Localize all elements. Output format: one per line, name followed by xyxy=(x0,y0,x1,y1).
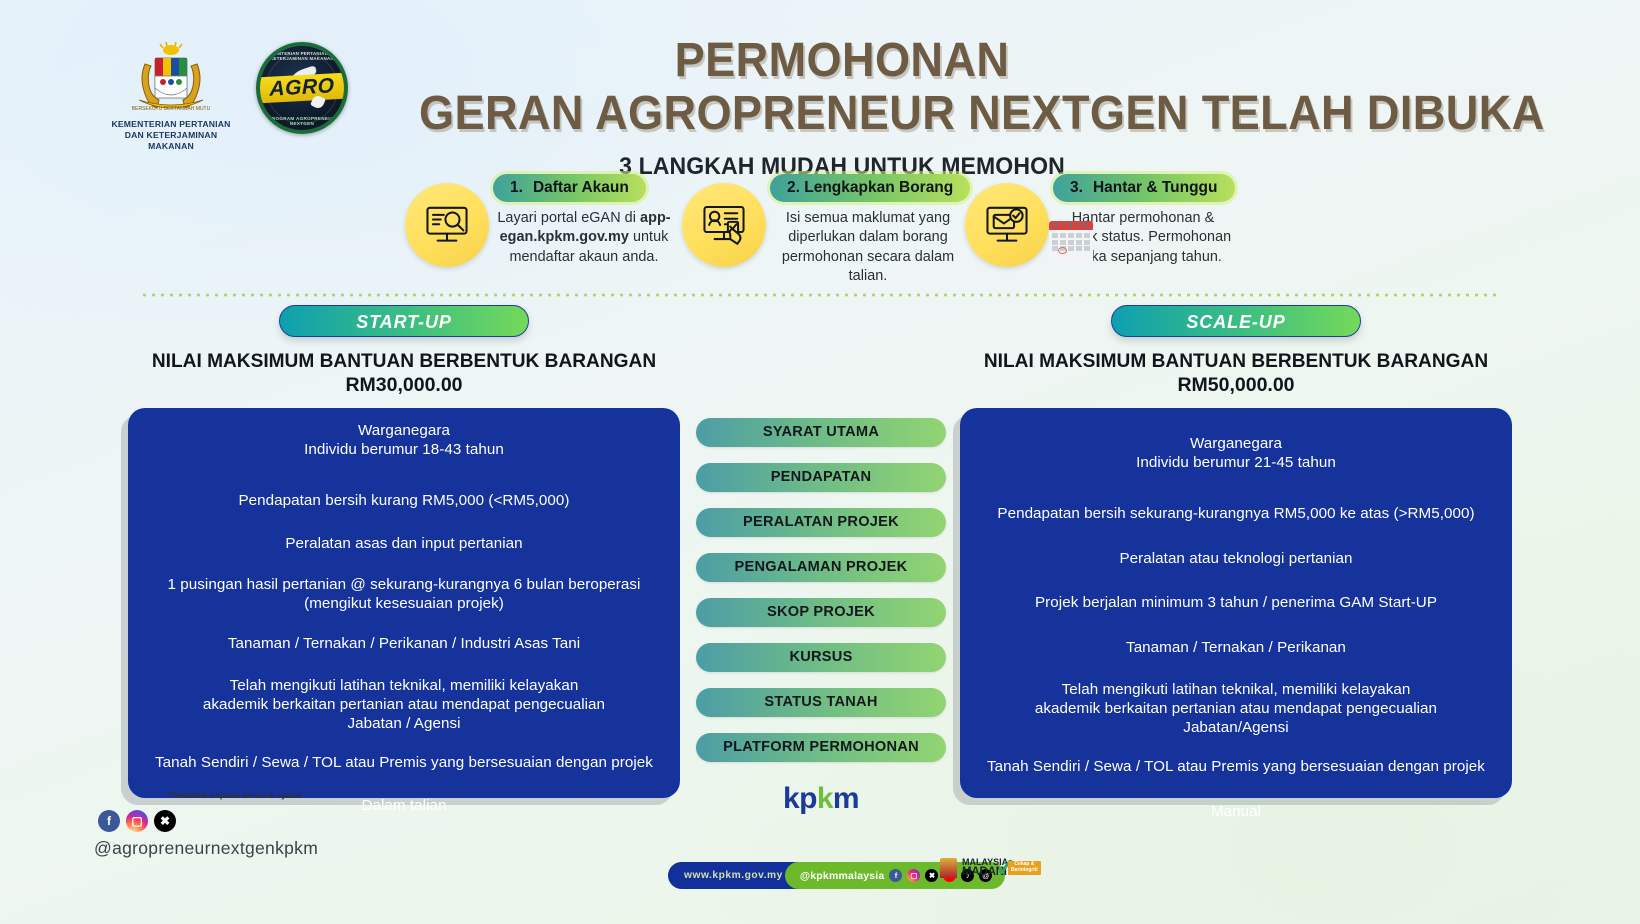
instagram-icon[interactable]: ▢ xyxy=(907,869,920,882)
step-2-title: 2. Lengkapkan Borang xyxy=(787,179,953,196)
criteria-label-pendapatan: PENDAPATAN xyxy=(696,463,946,492)
terms-note: *Tertakluk kepada terma & syarat xyxy=(167,790,302,800)
scaleup-row-3: Projek berjalan minimum 3 tahun / peneri… xyxy=(970,594,1502,613)
calendar-pins xyxy=(1049,221,1093,228)
criteria-label-column: SYARAT UTAMA PENDAPATAN PERALATAN PROJEK… xyxy=(696,418,946,778)
scaleup-column: SCALE-UP NILAI MAKSIMUM BANTUAN BERBENTU… xyxy=(960,305,1512,798)
step-1-number: 1. xyxy=(510,179,523,196)
monitor-email-icon xyxy=(982,200,1032,250)
kpkm-logo: kpkm xyxy=(696,782,946,816)
step-2: 2. Lengkapkan Borang Isi semua maklumat … xyxy=(682,174,970,286)
title-line-2: GERAN AGROPRENEUR NEXTGEN TELAH DIBUKA xyxy=(419,88,1265,140)
step-3-icon-circle xyxy=(965,183,1049,267)
scaleup-criteria-box: WarganegaraIndividu berumur 21-45 tahun … xyxy=(960,408,1512,798)
scaleup-row-7: Manual xyxy=(970,803,1502,822)
cekap-line-2: Berintegriti xyxy=(1011,868,1038,874)
step-1: 1.Daftar Akaun Layari portal eGAN di app… xyxy=(405,174,675,267)
dotted-divider xyxy=(140,293,1500,297)
step-1-text: 1.Daftar Akaun Layari portal eGAN di app… xyxy=(493,174,675,267)
agro-logo: KEMENTERIAN PERTANIAN DAN KETERJAMINAN M… xyxy=(256,42,348,134)
step-1-description: Layari portal eGAN di app-egan.kpkm.gov.… xyxy=(493,209,675,267)
kpkm-logo-part3: m xyxy=(833,782,859,815)
x-twitter-icon[interactable]: ✖ xyxy=(154,810,176,832)
startup-column: START-UP NILAI MAKSIMUM BANTUAN BERBENTU… xyxy=(128,305,680,798)
instagram-icon[interactable]: ▢ xyxy=(126,810,148,832)
step-1-desc-pre: Layari portal eGAN di xyxy=(497,210,640,226)
monitor-search-icon xyxy=(422,200,472,250)
startup-row-6: Tanah Sendiri / Sewa / TOL atau Premis y… xyxy=(138,754,670,773)
kpkm-logo-part1: kp xyxy=(783,782,817,815)
criteria-label-syarat-utama: SYARAT UTAMA xyxy=(696,418,946,447)
startup-max-label: NILAI MAKSIMUM BANTUAN BERBENTUK BARANGA… xyxy=(134,350,675,372)
form-click-icon xyxy=(699,200,749,250)
cekap-text: Cekap & Berintegriti xyxy=(1008,861,1041,875)
step-3-number: 3. xyxy=(1070,179,1083,196)
madani-icon xyxy=(940,858,957,878)
title-line-1: PERMOHONAN xyxy=(419,36,1265,85)
scaleup-row-2: Peralatan atau teknologi pertanian xyxy=(970,550,1502,569)
calendar-icon xyxy=(1049,221,1093,265)
step-3: 3.Hantar & Tunggu Hantar permohonan & se… xyxy=(965,174,1235,267)
website-url[interactable]: www.kpkm.gov.my xyxy=(668,862,798,889)
step-2-text: 2. Lengkapkan Borang Isi semua maklumat … xyxy=(770,174,970,286)
startup-max-amount: RM30,000.00 xyxy=(128,374,680,397)
step-2-description: Isi semua maklumat yang diperlukan dalam… xyxy=(770,209,966,286)
x-twitter-icon[interactable]: ✖ xyxy=(925,869,938,882)
startup-criteria-box: WarganegaraIndividu berumur 18-43 tahun … xyxy=(128,408,680,798)
step-3-pill: 3.Hantar & Tunggu xyxy=(1053,174,1235,202)
scaleup-row-4: Tanaman / Ternakan / Perikanan xyxy=(970,639,1502,658)
startup-badge: START-UP xyxy=(279,305,529,337)
scaleup-max-amount: RM50,000.00 xyxy=(960,374,1512,397)
jata-negara-icon: BERSEKUTU BERTAMBAH MUTU xyxy=(125,42,217,116)
step-1-icon-circle xyxy=(405,183,489,267)
step-3-title: Hantar & Tunggu xyxy=(1093,179,1218,196)
scaleup-row-0: WarganegaraIndividu berumur 21-45 tahun xyxy=(970,435,1502,473)
startup-row-5: Telah mengikuti latihan teknikal, memili… xyxy=(138,677,670,734)
scaleup-row-6: Tanah Sendiri / Sewa / TOL atau Premis y… xyxy=(970,758,1502,777)
startup-row-2: Peralatan asas dan input pertanian xyxy=(138,535,670,554)
facebook-icon[interactable]: f xyxy=(98,810,120,832)
step-2-label: Lengkapkan Borang xyxy=(804,179,953,196)
scaleup-badge: SCALE-UP xyxy=(1111,305,1361,337)
agro-logo-ring-bottom-text: PROGRAM AGROPRENEUR NEXTGEN xyxy=(260,116,344,126)
calendar-highlight xyxy=(1058,247,1067,254)
agro-logo-word: AGRO xyxy=(260,74,344,102)
criteria-label-pengalaman-projek: PENGALAMAN PROJEK xyxy=(696,553,946,582)
social-icon-group: f ▢ ✖ xyxy=(98,810,176,832)
step-2-number: 2. xyxy=(787,179,800,196)
calendar-grid xyxy=(1049,230,1093,254)
criteria-label-status-tanah: STATUS TANAH xyxy=(696,688,946,717)
facebook-icon[interactable]: f xyxy=(889,869,902,882)
criteria-label-peralatan-projek: PERALATAN PROJEK xyxy=(696,508,946,537)
startup-row-3: 1 pusingan hasil pertanian @ sekurang-ku… xyxy=(138,576,670,614)
footer-social-handle: @kpkmmalaysia xyxy=(800,870,885,882)
ministry-logo-caption: KEMENTERIAN PERTANIAN DAN KETERJAMINAN M… xyxy=(108,119,234,152)
scaleup-max-label: NILAI MAKSIMUM BANTUAN BERBENTUK BARANGA… xyxy=(966,350,1507,372)
startup-row-1: Pendapatan bersih kurang RM5,000 (<RM5,0… xyxy=(138,492,670,511)
scaleup-row-1: Pendapatan bersih sekurang-kurangnya RM5… xyxy=(970,505,1502,524)
step-1-pill: 1.Daftar Akaun xyxy=(493,174,646,202)
cekap-berintegriti-badge: ✓ Cekap & Berintegriti xyxy=(995,856,1043,880)
steps-section: 1.Daftar Akaun Layari portal eGAN di app… xyxy=(0,174,1640,290)
step-2-pill: 2. Lengkapkan Borang xyxy=(770,174,970,202)
social-handle: @agropreneurnextgenkpkm xyxy=(94,838,318,859)
criteria-label-skop-projek: SKOP PROJEK xyxy=(696,598,946,627)
agro-logo-ring-top-text: KEMENTERIAN PERTANIAN DAN KETERJAMINAN M… xyxy=(260,51,344,61)
startup-row-4: Tanaman / Ternakan / Perikanan / Industr… xyxy=(138,635,670,654)
ministry-logo: BERSEKUTU BERTAMBAH MUTU KEMENTERIAN PER… xyxy=(108,42,234,152)
criteria-label-platform-permohonan: PLATFORM PERMOHONAN xyxy=(696,733,946,762)
logo-group: BERSEKUTU BERTAMBAH MUTU KEMENTERIAN PER… xyxy=(108,42,348,152)
svg-text:BERSEKUTU BERTAMBAH MUTU: BERSEKUTU BERTAMBAH MUTU xyxy=(132,106,211,112)
step-1-title: Daftar Akaun xyxy=(533,179,629,196)
scaleup-row-5: Telah mengikuti latihan teknikal, memili… xyxy=(970,681,1502,738)
header: BERSEKUTU BERTAMBAH MUTU KEMENTERIAN PER… xyxy=(0,0,1640,176)
title-block: PERMOHONAN GERAN AGROPRENEUR NEXTGEN TEL… xyxy=(392,36,1292,181)
step-2-icon-circle xyxy=(682,183,766,267)
kpkm-logo-part2: k xyxy=(817,782,833,815)
startup-row-0: WarganegaraIndividu berumur 18-43 tahun xyxy=(138,422,670,460)
criteria-label-kursus: KURSUS xyxy=(696,643,946,672)
